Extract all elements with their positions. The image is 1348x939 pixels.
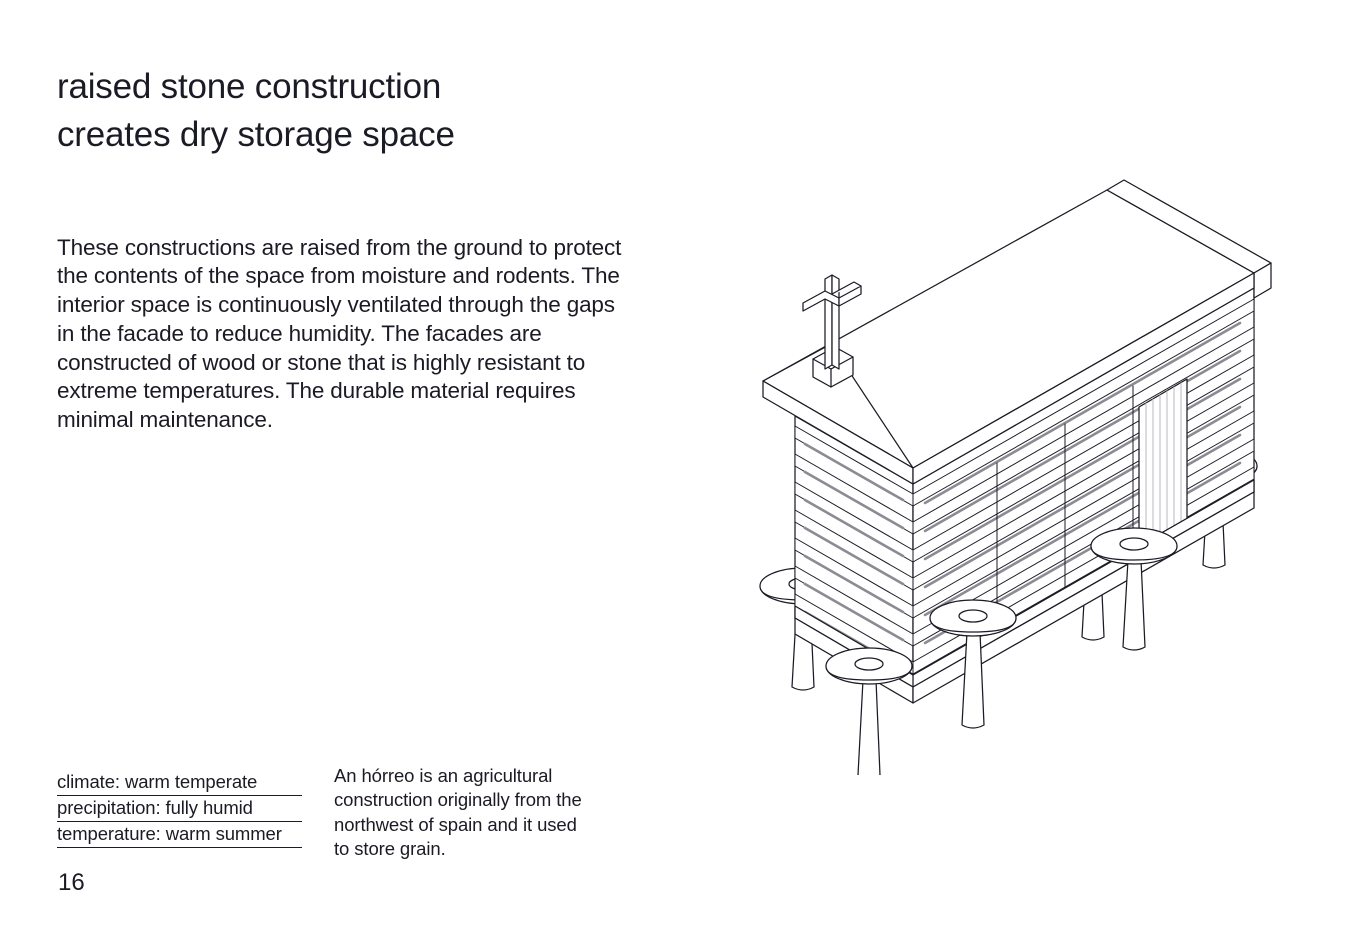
metadata-row-precipitation: precipitation: fully humid <box>57 796 302 822</box>
horreo-svg <box>735 175 1295 775</box>
page-title: raised stone construction creates dry st… <box>57 63 677 159</box>
document-page: raised stone construction creates dry st… <box>0 0 1348 939</box>
metadata-row-temperature: temperature: warm summer <box>57 822 302 848</box>
horreo-isometric-drawing <box>735 175 1295 775</box>
body-paragraph: These constructions are raised from the … <box>57 234 632 436</box>
page-number: 16 <box>58 869 85 897</box>
figure-caption: An hórreo is an agricultural constructio… <box>334 764 596 862</box>
metadata-block: climate: warm temperate precipitation: f… <box>57 770 302 848</box>
metadata-row-climate: climate: warm temperate <box>57 770 302 796</box>
support-pillar-front-left <box>826 648 912 775</box>
